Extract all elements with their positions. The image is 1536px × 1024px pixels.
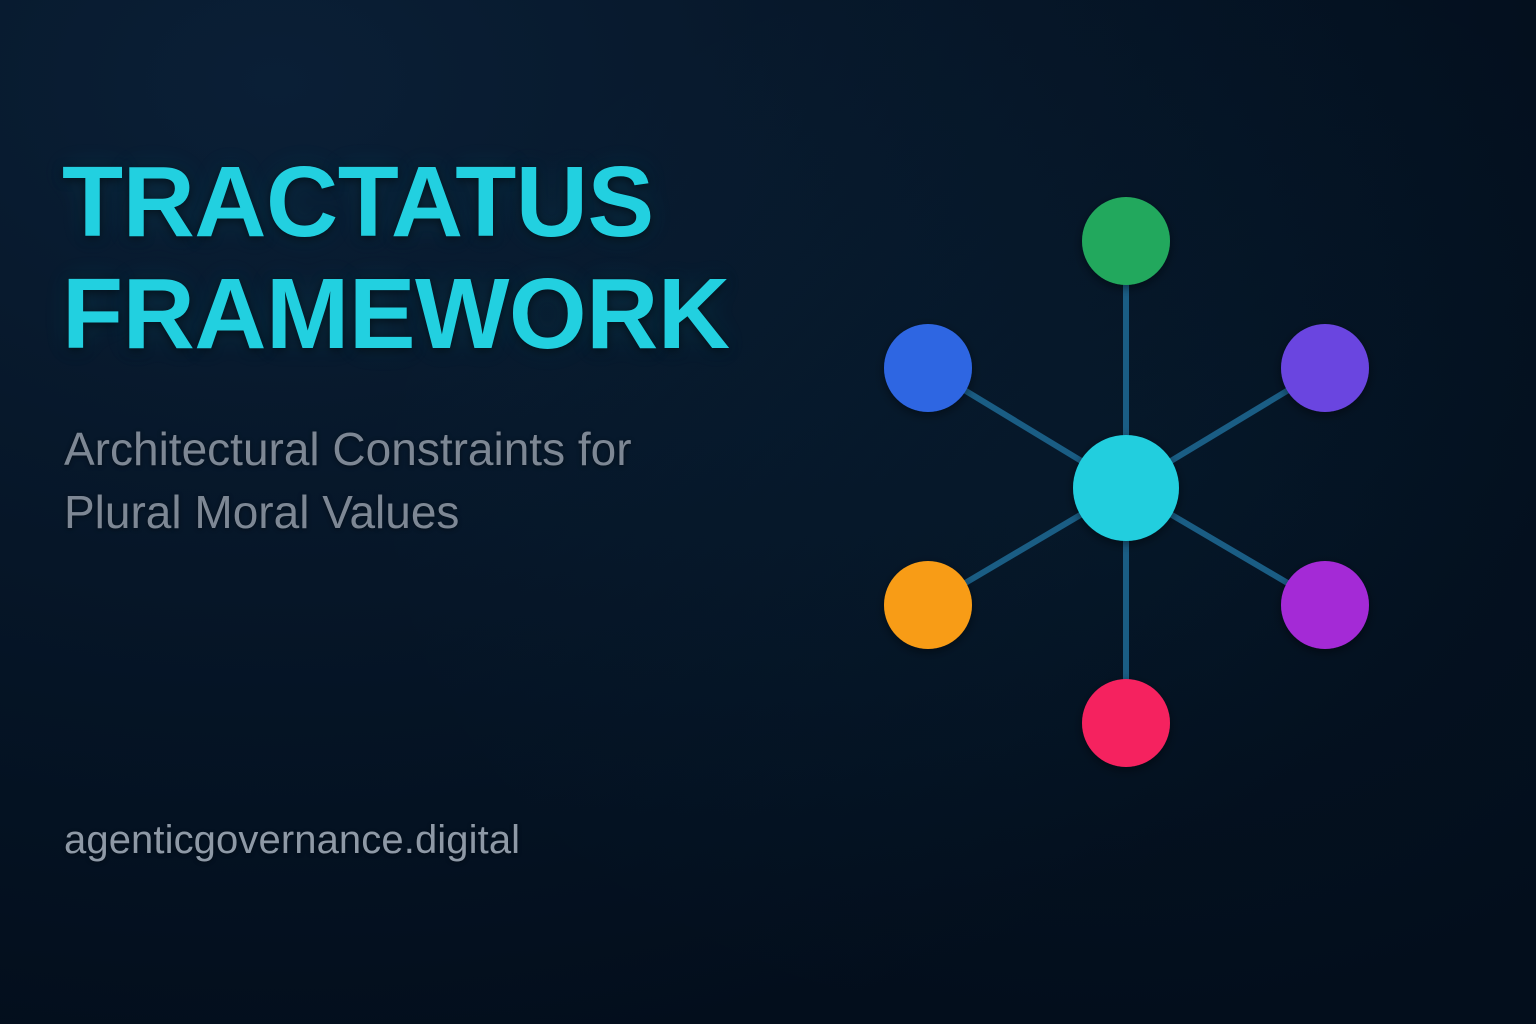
site-url-label: agenticgovernance.digital — [64, 818, 520, 863]
page-subtitle: Architectural Constraints for Plural Mor… — [64, 418, 804, 543]
social-card: TRACTATUS FRAMEWORK Architectural Constr… — [0, 0, 1536, 1024]
hero-text-block: TRACTATUS FRAMEWORK Architectural Constr… — [62, 0, 822, 1024]
graph-edge-node-left-upper-blue — [959, 387, 1088, 465]
graph-nodes — [884, 197, 1369, 767]
node-top-green[interactable] — [1082, 197, 1170, 285]
central-hub-node[interactable] — [1073, 435, 1179, 541]
page-title: TRACTATUS FRAMEWORK — [62, 146, 822, 370]
node-right-lower-purple[interactable] — [1281, 561, 1369, 649]
node-bottom-pink[interactable] — [1082, 679, 1170, 767]
node-left-lower-orange[interactable] — [884, 561, 972, 649]
node-left-upper-blue[interactable] — [884, 324, 972, 412]
graph-edge-node-right-lower-purple — [1165, 511, 1294, 587]
graph-edge-node-right-upper-indigo — [1165, 387, 1295, 465]
node-right-upper-indigo[interactable] — [1281, 324, 1369, 412]
graph-edge-node-left-lower-orange — [959, 511, 1087, 587]
